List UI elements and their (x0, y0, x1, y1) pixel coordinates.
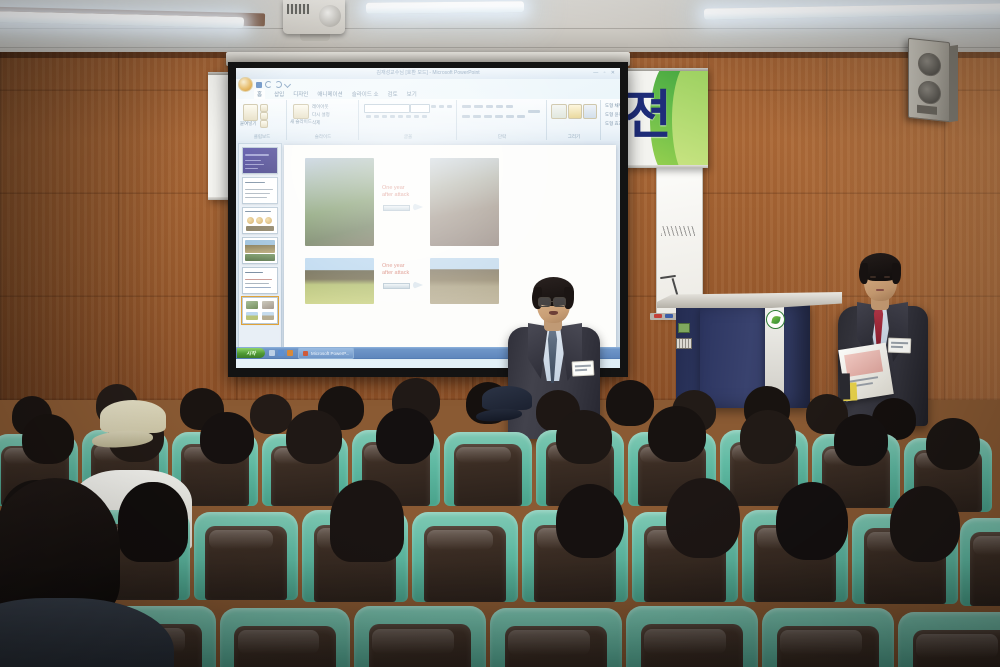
audience-head (740, 410, 796, 464)
ribbon[interactable]: 붙여넣기 클립보드 새 슬라이드 레이아웃 다시 설정 삭제 슬라이드 (236, 99, 620, 142)
auditorium-seat (354, 606, 486, 667)
char-spacing-icon[interactable] (406, 115, 411, 118)
shrink-font-icon[interactable] (439, 105, 444, 108)
podium-control-panel (676, 338, 692, 349)
slide-thumbnail-4[interactable] (242, 237, 278, 264)
window-controls[interactable]: — ▫ ✕ (593, 70, 617, 76)
attendee-hair-side-left (859, 263, 868, 284)
attendee-name-badge (888, 338, 912, 354)
attendee-eye-left (870, 276, 876, 278)
grow-font-icon[interactable] (431, 105, 436, 108)
auditorium-seat (444, 432, 532, 506)
start-button[interactable]: 시작 (237, 348, 265, 358)
tab-view[interactable]: 보기 (407, 90, 417, 98)
transition-arrow-2 (383, 281, 423, 289)
shape-fill-label[interactable]: 도형 채우기 (605, 103, 620, 109)
ribbon-group-drawing-label: 그리기 (548, 134, 600, 140)
slide-thumbnail-2[interactable] (242, 177, 278, 204)
after-attack-field-photo (430, 258, 499, 304)
audience-area (0, 360, 1000, 667)
attendee-hair-side-right (892, 263, 901, 284)
audience-head (556, 484, 624, 558)
attendee-eye-right (884, 276, 890, 278)
align-left-icon[interactable] (462, 115, 470, 118)
audience-head (118, 482, 188, 562)
powerpoint-titlebar: 김재성교수님 [호환 모드] - Microsoft PowerPoint — … (236, 68, 620, 79)
audience-head (890, 486, 960, 562)
office-orb-button[interactable] (238, 77, 253, 92)
powerpoint-window-title: 김재성교수님 [호환 모드] - Microsoft PowerPoint (376, 69, 479, 76)
attendee-mouth (876, 289, 884, 291)
font-name-combo[interactable] (364, 104, 410, 113)
audience-head (286, 410, 342, 464)
copy-icon[interactable] (260, 112, 268, 120)
columns-icon[interactable] (506, 115, 514, 118)
audience-head (648, 406, 706, 462)
taskbar-powerpoint-item[interactable]: Microsoft PowerP... (298, 347, 354, 359)
navy-cap (482, 386, 532, 420)
whiteboard-writing (661, 226, 695, 236)
ribbon-group-paragraph[interactable]: 단락 (458, 100, 547, 140)
align-center-icon[interactable] (473, 115, 481, 118)
audience-head (776, 482, 848, 560)
ribbon-group-shape-format[interactable]: 도형 채우기 도형 윤곽선 도형 효과 (602, 100, 620, 140)
ceiling (0, 0, 1000, 60)
audience-head (926, 418, 980, 470)
auditorium-seat (762, 608, 894, 667)
tab-insert[interactable]: 삽입 (274, 90, 284, 98)
auditorium-seat (898, 612, 1000, 667)
audience-head (200, 412, 254, 464)
projector-lens (319, 5, 341, 27)
convert-smartart-icon[interactable] (528, 110, 540, 113)
justify-icon[interactable] (495, 115, 503, 118)
before-attack-field-photo (305, 258, 374, 304)
reset-label[interactable]: 다시 설정 (312, 112, 330, 118)
cut-icon[interactable] (260, 104, 268, 112)
ribbon-group-clipboard[interactable]: 붙여넣기 클립보드 (238, 100, 287, 140)
audience-head (250, 394, 292, 434)
format-painter-icon[interactable] (260, 120, 268, 128)
media-player-icon[interactable] (287, 350, 293, 356)
before-attack-forest-photo (305, 158, 374, 246)
annotation-line-2b: after attack (382, 270, 409, 277)
slide-thumbnail-3[interactable] (242, 207, 278, 234)
slide-thumbnail-1[interactable] (242, 147, 278, 174)
numbering-icon[interactable] (474, 105, 483, 108)
tab-slideshow[interactable]: 슬라이드 쇼 (352, 90, 379, 98)
browser-icon[interactable] (278, 350, 284, 356)
slide-thumbnail-6[interactable] (242, 297, 278, 324)
auditorium-seat (412, 512, 518, 602)
after-attack-forest-photo (430, 158, 499, 246)
quick-launch-bar[interactable] (269, 350, 293, 356)
audience-head (330, 480, 404, 562)
ribbon-group-slides-label: 슬라이드 (288, 134, 358, 140)
transition-arrow-1 (383, 203, 423, 211)
annotation-line-2a: One year (382, 263, 405, 270)
ribbon-group-drawing[interactable]: 그리기 (548, 100, 601, 140)
auditorium-seat (220, 608, 350, 667)
ribbon-group-paragraph-label: 단락 (458, 134, 546, 140)
new-slide-icon[interactable] (293, 104, 309, 119)
bold-icon[interactable] (366, 115, 371, 118)
ribbon-group-font-label: 글꼴 (360, 134, 456, 140)
strikethrough-icon[interactable] (390, 115, 395, 118)
auditorium-seat (490, 608, 622, 667)
tab-design[interactable]: 디자인 (293, 90, 308, 98)
marker-blue (665, 314, 673, 318)
ribbon-group-clipboard-label: 클립보드 (238, 134, 286, 140)
speaker-driver-bottom (918, 80, 941, 105)
decrease-indent-icon[interactable] (486, 105, 493, 108)
shape-outline-label[interactable]: 도형 윤곽선 (605, 112, 620, 118)
auditorium-seat (960, 518, 1000, 606)
speaker-driver-top (918, 52, 941, 77)
ribbon-group-font[interactable]: 글꼴 (360, 100, 457, 140)
banner-right-text: 젼 (624, 90, 670, 142)
paste-label[interactable]: 붙여넣기 (240, 121, 257, 127)
ribbon-tabs[interactable]: 홈 삽입 디자인 애니메이션 슬라이드 쇼 검토 보기 (254, 89, 417, 99)
annotation-line-1a: One year (382, 185, 405, 192)
taskbar-item-label: Microsoft PowerP... (311, 351, 349, 356)
align-right-icon[interactable] (484, 115, 492, 118)
audience-head (606, 380, 654, 426)
podium-logo (766, 310, 785, 329)
shapes-gallery-icon[interactable] (551, 104, 567, 119)
audience-head (376, 408, 434, 464)
slide-thumbnail-5[interactable] (242, 267, 278, 294)
annotation-line-1b: after attack (382, 192, 409, 199)
banner-right: 젼 (618, 68, 708, 168)
delete-label[interactable]: 삭제 (312, 120, 320, 126)
tab-animations[interactable]: 애니메이션 (317, 90, 342, 98)
beige-cap (100, 400, 166, 446)
show-desktop-icon[interactable] (269, 350, 275, 356)
speaker-badge (917, 105, 937, 115)
line-spacing-icon[interactable] (506, 105, 513, 108)
audience-head (556, 410, 612, 464)
change-case-icon[interactable] (414, 115, 419, 118)
arrange-icon[interactable] (568, 104, 582, 119)
audience-head (22, 414, 74, 464)
lecture-hall-photo: 젼 김재성교수님 [호환 모드] - Microsoft PowerPoint … (0, 0, 1000, 667)
font-color-icon[interactable] (422, 115, 427, 118)
presenter-glasses (538, 297, 569, 306)
wall-shadow-left (0, 52, 190, 400)
ceiling-light-fixture-3 (704, 3, 1000, 19)
text-direction-icon[interactable] (517, 115, 525, 118)
shadow-icon[interactable] (398, 115, 403, 118)
ceiling-light-fixture-2 (366, 1, 524, 14)
presenter-mouth (549, 311, 558, 315)
wall-speaker (908, 38, 950, 122)
bullets-icon[interactable] (462, 105, 471, 108)
italic-icon[interactable] (374, 115, 379, 118)
ribbon-group-slides[interactable]: 새 슬라이드 레이아웃 다시 설정 삭제 슬라이드 (288, 100, 359, 140)
chevron-down-icon[interactable] (284, 81, 291, 88)
increase-indent-icon[interactable] (496, 105, 503, 108)
tab-home[interactable]: 홈 (254, 89, 265, 99)
powerpoint-icon (303, 351, 308, 356)
layout-label[interactable]: 레이아웃 (312, 104, 329, 110)
new-slide-label[interactable]: 새 슬라이드 (290, 119, 312, 125)
quick-styles-icon[interactable] (583, 104, 597, 119)
slide-thumbnail-panel[interactable] (238, 143, 282, 357)
ceiling-projector (283, 0, 345, 34)
underline-icon[interactable] (382, 115, 387, 118)
undo-icon[interactable] (265, 81, 272, 88)
auditorium-seat (194, 512, 298, 600)
clear-formatting-icon[interactable] (447, 105, 452, 108)
marker-red (654, 314, 662, 318)
redo-icon[interactable] (275, 81, 282, 88)
shape-effects-label[interactable]: 도형 효과 (605, 121, 620, 127)
auditorium-seat (626, 606, 758, 667)
audience-head (834, 414, 888, 466)
paste-icon[interactable] (243, 104, 258, 121)
tab-review[interactable]: 검토 (388, 90, 398, 98)
save-icon[interactable] (256, 82, 262, 88)
audience-head (666, 478, 740, 558)
quick-access-toolbar[interactable] (238, 80, 290, 89)
podium-green-panel (678, 323, 690, 333)
font-size-combo[interactable] (410, 104, 430, 113)
whiteboard (656, 155, 703, 317)
